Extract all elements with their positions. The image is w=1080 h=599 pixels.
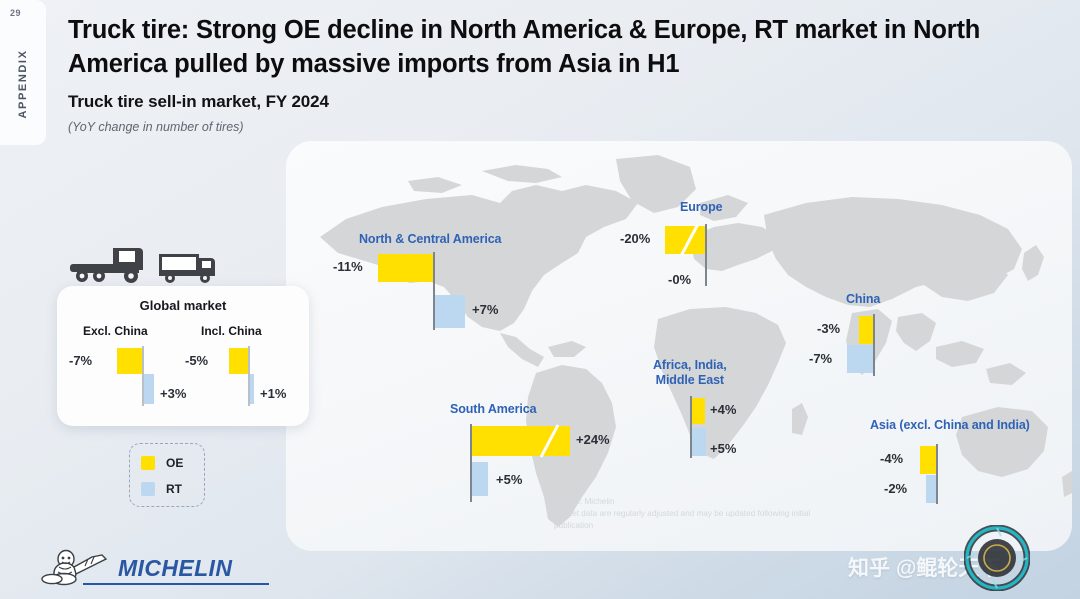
value-oe-north-central-america: -11% xyxy=(333,259,363,274)
value-rt-china: -7% xyxy=(809,351,832,366)
region-label-china: China xyxy=(846,292,880,307)
value-rt-excl-china: +3% xyxy=(160,386,186,401)
truck-icon-group xyxy=(55,240,235,288)
bar-oe-china xyxy=(859,316,873,344)
region-africa-india-middle-east: Africa, India, Middle East +4% +5% xyxy=(640,358,790,468)
global-market-card: Global market Excl. China -7% +3% Incl. … xyxy=(57,286,309,426)
bar-rt-south-america xyxy=(472,462,488,496)
appendix-label: APPENDIX xyxy=(17,49,29,118)
bar-rt-north-central-america xyxy=(435,295,465,328)
legend-swatch-rt-icon xyxy=(141,482,155,496)
region-label-south-america: South America xyxy=(450,402,536,417)
appendix-tab: 29 APPENDIX xyxy=(0,0,46,145)
value-oe-incl-china: -5% xyxy=(185,353,208,368)
legend-label-rt: RT xyxy=(166,482,182,496)
legend-item-rt: RT xyxy=(141,482,182,496)
region-north-central-america: North & Central America -11% +7% xyxy=(355,232,545,342)
value-oe-asia-excl-china-india: -4% xyxy=(880,451,903,466)
value-rt-north-central-america: +7% xyxy=(472,302,498,317)
value-oe-europe: -20% xyxy=(620,231,650,246)
value-rt-incl-china: +1% xyxy=(260,386,286,401)
box-truck-icon xyxy=(159,254,215,276)
global-market-title: Global market xyxy=(57,298,309,313)
value-rt-africa-india-middle-east: +5% xyxy=(710,441,736,456)
axis-line-china xyxy=(873,314,875,376)
region-label-asia-excl-china-india: Asia (excl. China and India) xyxy=(870,418,1030,433)
michelin-wordmark: MICHELIN xyxy=(118,555,232,582)
bar-oe-incl-china xyxy=(229,348,248,374)
region-label-line-1: Africa, India, xyxy=(653,358,727,372)
truck-icons xyxy=(55,240,235,288)
value-oe-africa-india-middle-east: +4% xyxy=(710,402,736,417)
chart-legend: OE RT xyxy=(129,443,205,507)
value-oe-south-america: +24% xyxy=(576,432,610,447)
region-china: China -3% -7% xyxy=(805,292,945,392)
value-oe-china: -3% xyxy=(817,321,840,336)
region-label-line-2: Middle East xyxy=(656,373,724,387)
bar-rt-china xyxy=(847,345,873,373)
watermark-tire-logo-icon xyxy=(964,525,1030,591)
page-subnote: (YoY change in number of tires) xyxy=(68,120,244,134)
region-label-europe: Europe xyxy=(680,200,722,215)
region-asia-excl-china-india: Asia (excl. China and India) -4% -2% xyxy=(860,418,1060,518)
region-europe: Europe -20% -0% xyxy=(610,200,770,300)
value-rt-asia-excl-china-india: -2% xyxy=(884,481,907,496)
bar-rt-africa-india-middle-east xyxy=(692,428,706,456)
legend-item-oe: OE xyxy=(141,456,183,470)
legend-label-oe: OE xyxy=(166,456,183,470)
region-label-north-central-america: North & Central America xyxy=(359,232,501,247)
page-number: 29 xyxy=(10,8,21,18)
page-title: Truck tire: Strong OE decline in North A… xyxy=(68,14,1068,82)
axis-line-europe xyxy=(705,224,707,286)
bar-oe-africa-india-middle-east xyxy=(692,398,705,424)
global-market-column-title-incl-china: Incl. China xyxy=(201,324,262,338)
bar-rt-incl-china xyxy=(250,374,254,404)
region-label-africa-india-middle-east: Africa, India, Middle East xyxy=(653,358,727,388)
bar-oe-excl-china xyxy=(117,348,142,374)
bar-oe-asia-excl-china-india xyxy=(920,446,936,474)
value-rt-europe: -0% xyxy=(668,272,691,287)
value-oe-excl-china: -7% xyxy=(69,353,92,368)
legend-swatch-oe-icon xyxy=(141,456,155,470)
bar-rt-asia-excl-china-india xyxy=(926,475,936,503)
axis-line-asia-excl-china-india xyxy=(936,444,938,504)
bar-rt-excl-china xyxy=(144,374,154,404)
global-market-column-title-excl-china: Excl. China xyxy=(83,324,148,338)
michelin-logo: MICHELIN xyxy=(38,549,238,591)
michelin-underline xyxy=(83,583,269,585)
value-rt-south-america: +5% xyxy=(496,472,522,487)
page-subtitle: Truck tire sell-in market, FY 2024 xyxy=(68,92,329,112)
region-south-america: South America +24% +5% xyxy=(440,402,630,512)
bar-oe-north-central-america xyxy=(378,254,433,282)
